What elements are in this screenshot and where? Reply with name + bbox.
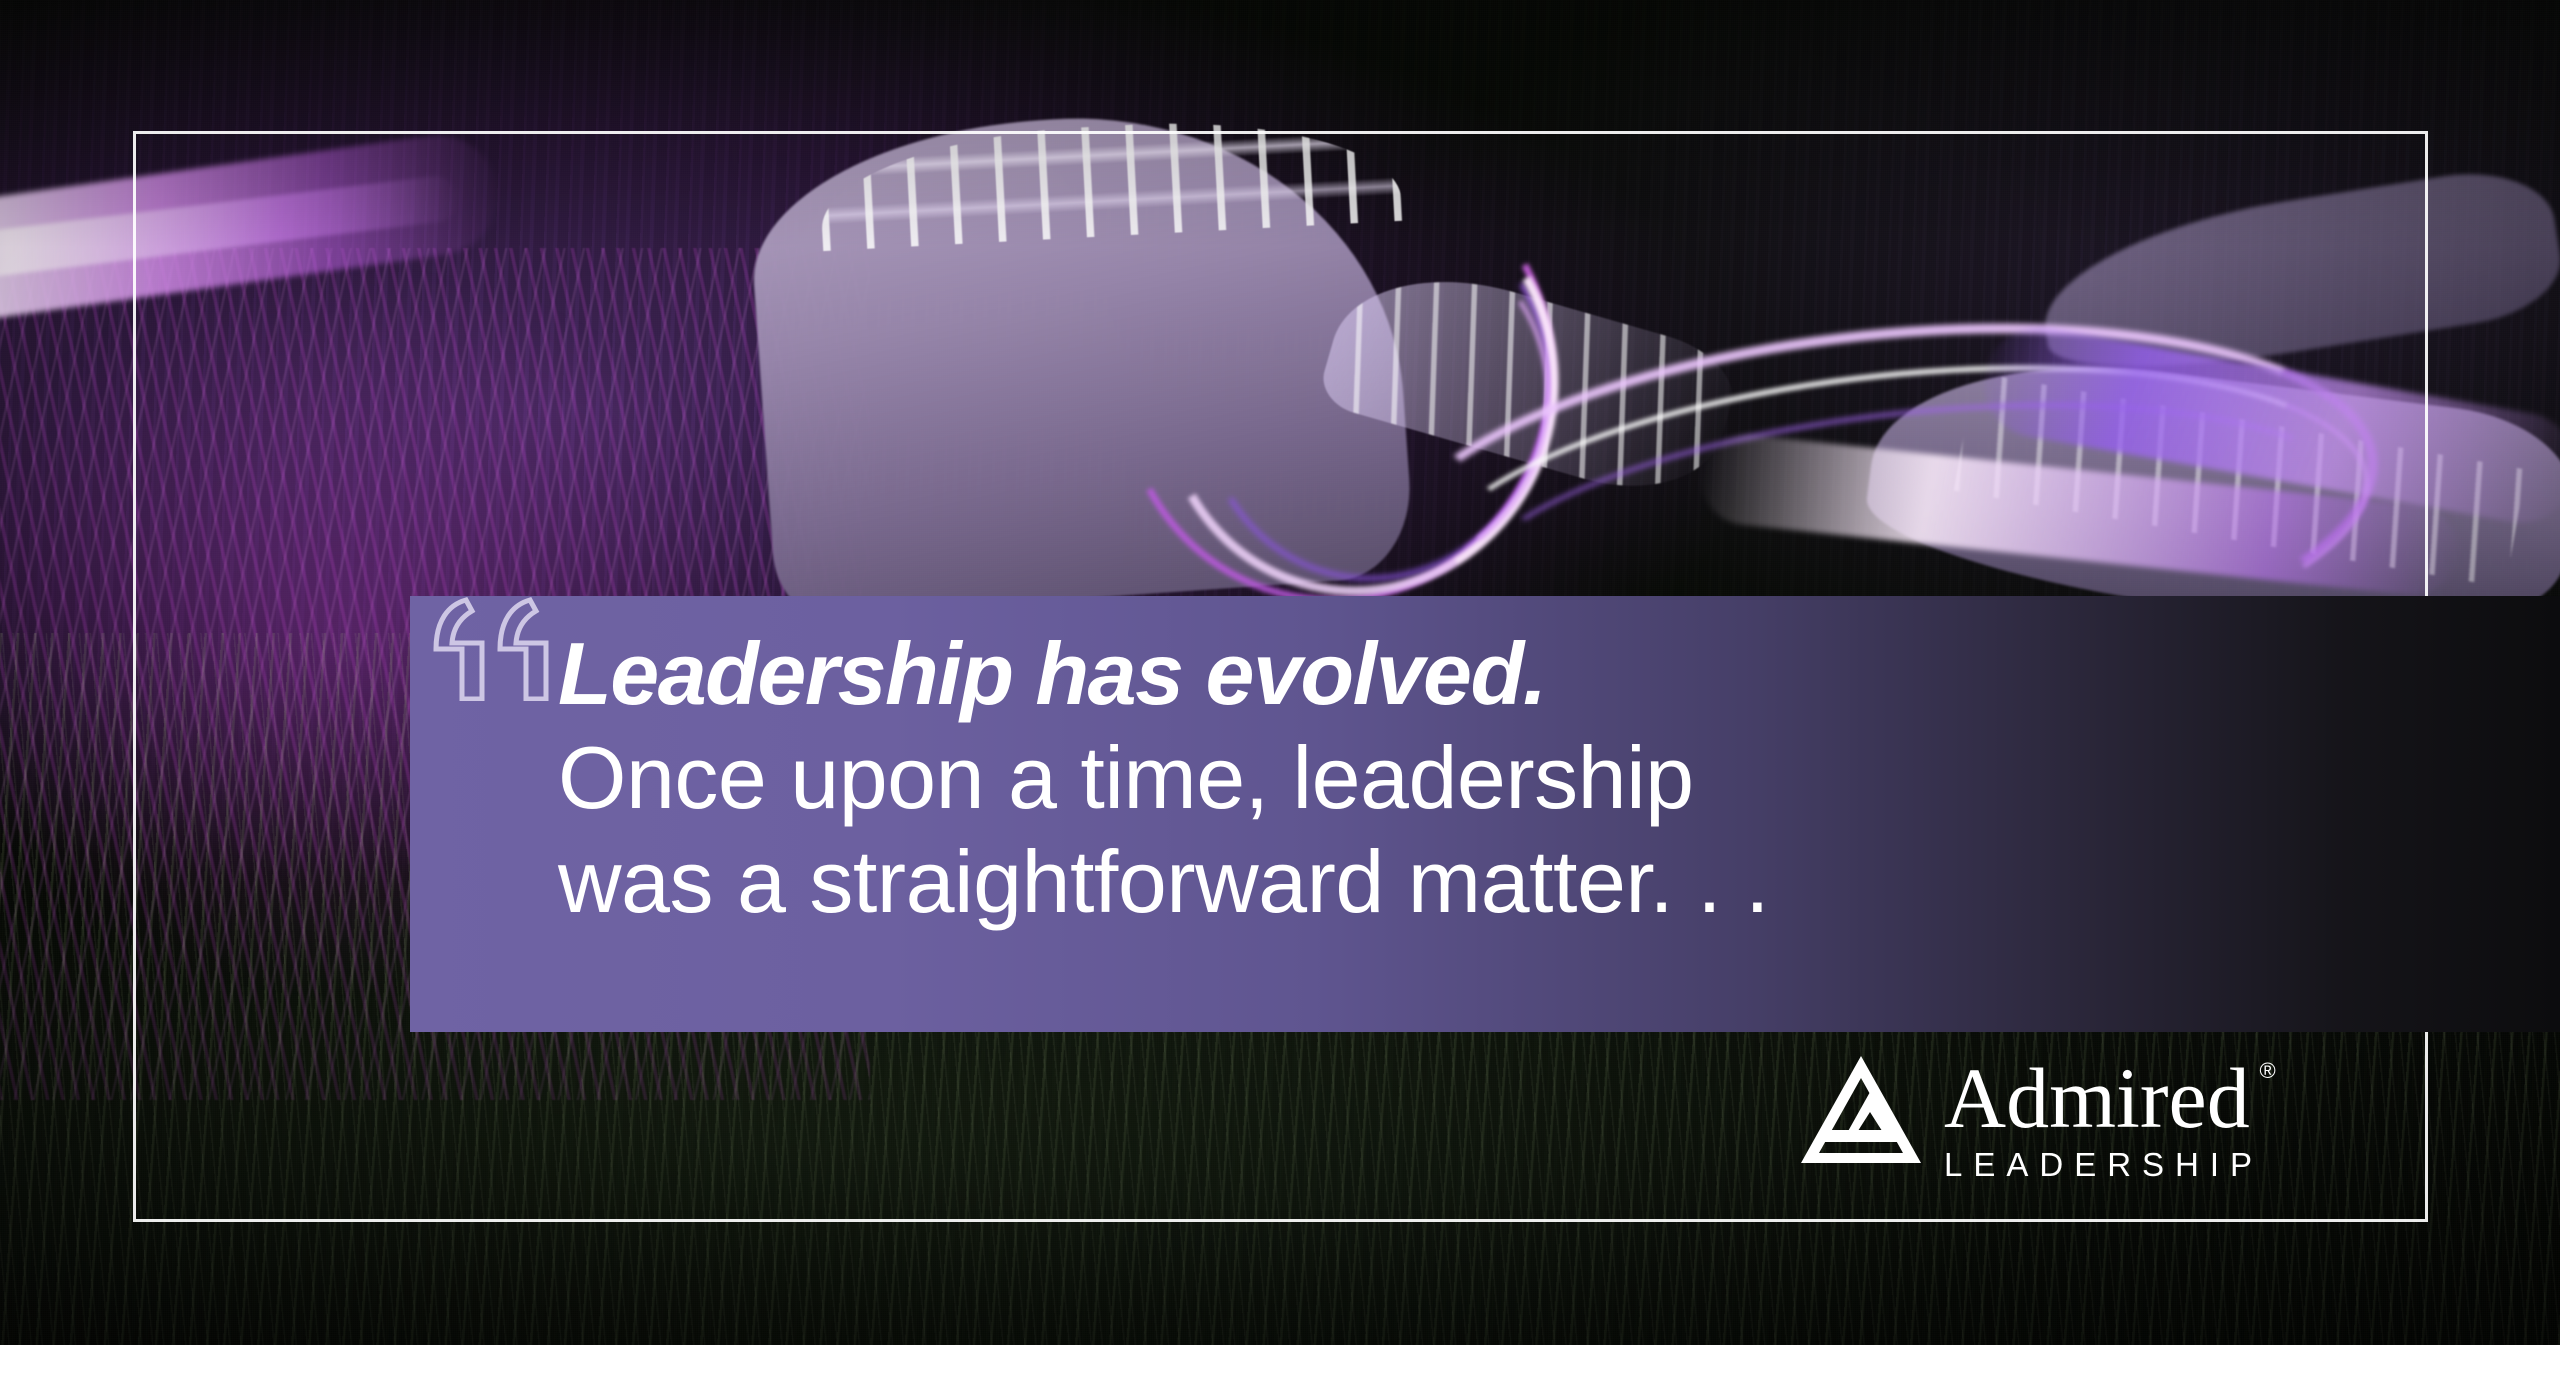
quote-text-block: Leadership has evolved. Once upon a time…	[558, 622, 2520, 933]
logo-subtitle: LEADERSHIP	[1944, 1146, 2265, 1184]
logo-wordmark: Admired ®	[1944, 1056, 2250, 1140]
bottom-white-strip	[0, 1345, 2560, 1375]
logo-wordmark-block: Admired ® LEADERSHIP	[1944, 1052, 2265, 1184]
registered-trademark-icon: ®	[2259, 1060, 2275, 1082]
quote-card-canvas: Leadership has evolved. Once upon a time…	[0, 0, 2560, 1375]
double-open-quote-icon	[426, 597, 566, 701]
admired-leadership-logo: Admired ® LEADERSHIP	[1800, 1052, 2340, 1190]
quote-body-line-1: Once upon a time, leadership	[558, 726, 2520, 830]
quote-body-line-2: was a straightforward matter. . .	[558, 830, 2520, 934]
logo-wordmark-text: Admired	[1944, 1050, 2250, 1146]
admired-triangle-logo-icon	[1800, 1054, 1922, 1166]
quote-panel: Leadership has evolved. Once upon a time…	[410, 596, 2560, 1032]
quote-lead-line: Leadership has evolved.	[558, 622, 2520, 726]
